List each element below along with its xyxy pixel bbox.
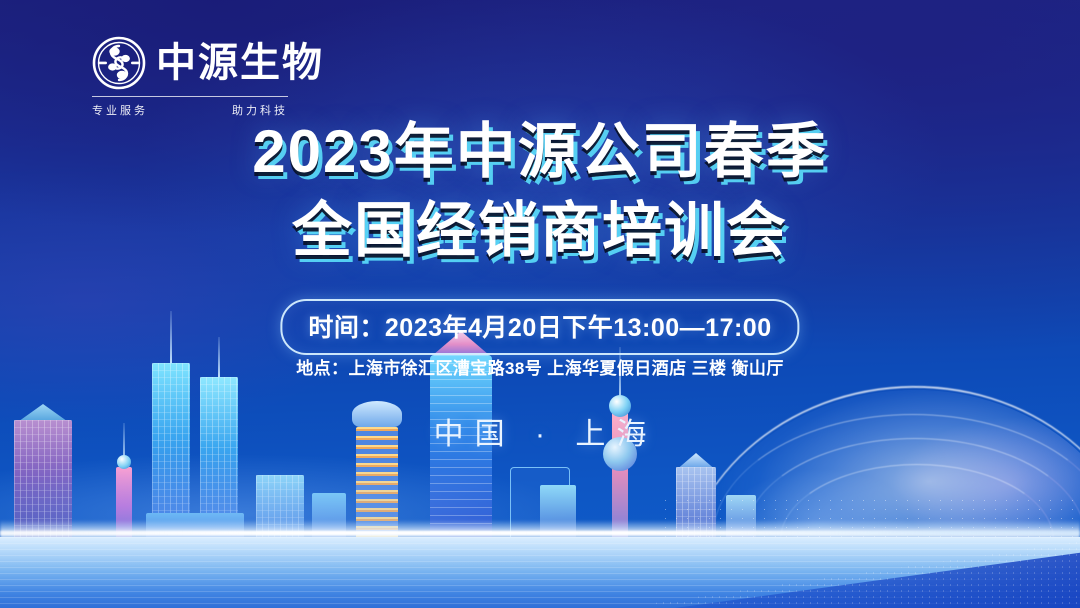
headline-line-2: 全国经销商培训会 xyxy=(0,191,1080,270)
event-time-value: 2023年4月20日下午13:00—17:00 xyxy=(385,314,772,342)
event-time-badge: 时间：2023年4月20日下午13:00—17:00 xyxy=(280,299,799,355)
brand-divider xyxy=(92,96,288,97)
event-place: 地点：上海市徐汇区漕宝路38号 上海华夏假日酒店 三楼 衡山厅 xyxy=(0,354,1080,379)
headline-line-1: 2023年中源公司春季 xyxy=(0,112,1080,191)
horizon-core-line xyxy=(0,531,1080,535)
event-time-label: 时间： xyxy=(308,314,385,342)
brand-logo: 中源生物 专业服务 助力科技 xyxy=(92,36,324,118)
event-poster: 中源生物 专业服务 助力科技 2023年中源公司春季 全国经销商培训会 时间：2… xyxy=(0,0,1080,608)
brand-name: 中源生物 xyxy=(156,43,324,83)
tower-sphere-small xyxy=(117,455,131,469)
page-title: 2023年中源公司春季 全国经销商培训会 xyxy=(0,112,1080,270)
event-location-tag: 中国 · 上海 xyxy=(0,409,1080,453)
brand-logo-row: 中源生物 xyxy=(92,36,324,90)
building-block-5-roof xyxy=(672,453,720,467)
circular-biology-emblem-icon xyxy=(92,36,146,90)
